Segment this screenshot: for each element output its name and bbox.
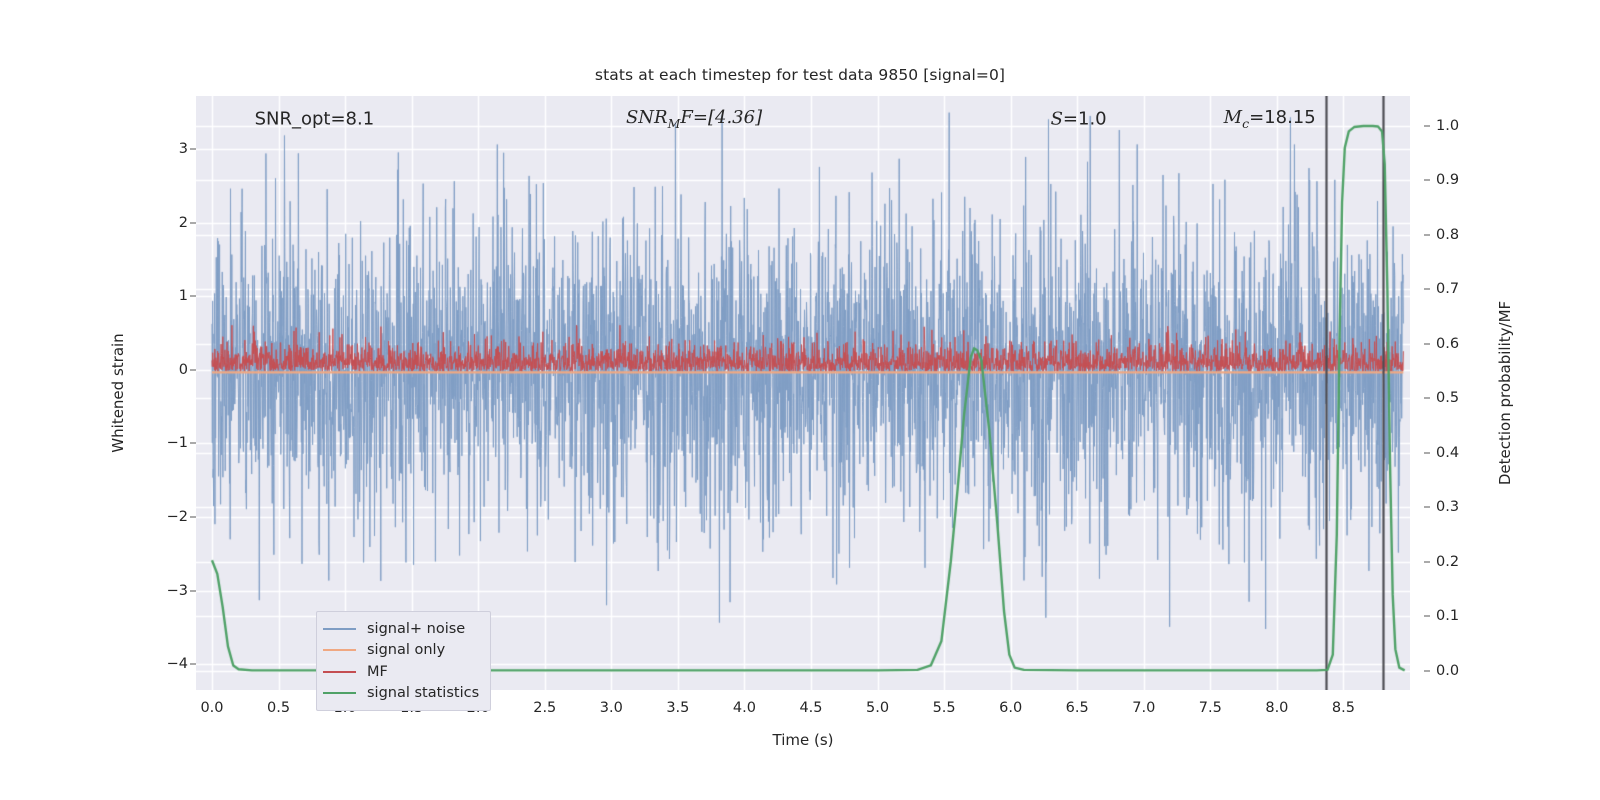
y-tick-label-right: 1.0 [1436, 118, 1459, 134]
legend-label: MF [367, 664, 388, 680]
y-tick-mark-right [1424, 561, 1430, 562]
x-tick-label: 2.5 [533, 700, 556, 716]
x-tick-label: 3.5 [666, 700, 689, 716]
page-title: stats at each timestep for test data 985… [0, 66, 1600, 84]
legend-item-signal-noise[interactable]: signal+ noise [323, 618, 482, 640]
legend-item-signal-only[interactable]: signal only [323, 640, 482, 662]
y-tick-mark-left [190, 443, 196, 444]
annotation-signal-score: S=1.0 [1051, 109, 1107, 130]
legend-item-mf[interactable]: MF [323, 661, 482, 683]
x-tick-label: 8.5 [1332, 700, 1355, 716]
y-tick-label-right: 0.6 [1436, 336, 1459, 352]
x-tick-label: 5.0 [866, 700, 889, 716]
y-tick-mark-right [1424, 452, 1430, 453]
x-tick-label: 4.0 [733, 700, 756, 716]
y-tick-label-right: 0.2 [1436, 554, 1459, 570]
y-tick-label-right: 0.5 [1436, 390, 1459, 406]
legend-label: signal+ noise [367, 621, 465, 637]
x-axis-label: Time (s) [773, 731, 834, 749]
annotation-snr-mf: SNRMF=[4.36] [626, 108, 762, 132]
annotation-layer: SNR_opt=8.1 SNRMF=[4.36] S=1.0 Mc=18.15 [196, 96, 1410, 690]
y-axis-label-left: Whitened strain [109, 333, 127, 452]
legend-swatch-icon [323, 671, 356, 673]
y-tick-mark-right [1424, 125, 1430, 126]
y-tick-mark-right [1424, 289, 1430, 290]
y-tick-label-left: −1 [167, 435, 188, 451]
y-tick-mark-left [190, 369, 196, 370]
y-tick-label-right: 0.0 [1436, 663, 1459, 679]
x-tick-label: 4.5 [799, 700, 822, 716]
x-tick-label: 0.5 [267, 700, 290, 716]
legend-swatch-icon [323, 692, 356, 694]
y-tick-label-left: 3 [179, 141, 188, 157]
annotation-chirp-mass: Mc=18.15 [1224, 108, 1316, 132]
y-tick-mark-right [1424, 343, 1430, 344]
y-tick-label-left: 1 [179, 288, 188, 304]
legend-swatch-icon [323, 628, 356, 630]
annotation-snr-opt: SNR_opt=8.1 [255, 109, 375, 130]
legend-label: signal statistics [367, 685, 479, 701]
y-tick-mark-left [190, 296, 196, 297]
y-tick-mark-right [1424, 507, 1430, 508]
y-tick-label-right: 0.4 [1436, 445, 1459, 461]
y-tick-label-right: 0.9 [1436, 172, 1459, 188]
y-tick-label-right: 0.8 [1436, 227, 1459, 243]
x-tick-label: 5.5 [933, 700, 956, 716]
y-tick-mark-left [190, 664, 196, 665]
x-tick-label: 7.0 [1132, 700, 1155, 716]
x-tick-label: 6.5 [1066, 700, 1089, 716]
y-tick-mark-right [1424, 670, 1430, 671]
legend-item-signal-statistics[interactable]: signal statistics [323, 683, 482, 705]
y-tick-label-left: −2 [167, 509, 188, 525]
y-tick-label-left: 0 [179, 362, 188, 378]
legend[interactable]: signal+ noisesignal onlyMFsignal statist… [316, 611, 491, 711]
y-tick-mark-left [190, 517, 196, 518]
x-tick-label: 3.0 [600, 700, 623, 716]
y-tick-mark-right [1424, 234, 1430, 235]
legend-label: signal only [367, 642, 445, 658]
x-tick-label: 6.0 [999, 700, 1022, 716]
x-tick-label: 0.0 [200, 700, 223, 716]
y-tick-label-left: 2 [179, 215, 188, 231]
y-tick-label-left: −3 [167, 583, 188, 599]
y-tick-mark-left [190, 148, 196, 149]
y-tick-mark-left [190, 222, 196, 223]
x-tick-label: 7.5 [1199, 700, 1222, 716]
y-tick-mark-right [1424, 398, 1430, 399]
y-tick-label-left: −4 [167, 656, 188, 672]
y-tick-label-right: 0.3 [1436, 499, 1459, 515]
legend-swatch-icon [323, 649, 356, 651]
y-axis-label-right: Detection probability/MF [1496, 301, 1514, 485]
y-tick-label-right: 0.1 [1436, 608, 1459, 624]
plot-area: SNR_opt=8.1 SNRMF=[4.36] S=1.0 Mc=18.15 [196, 96, 1410, 690]
y-tick-mark-right [1424, 180, 1430, 181]
figure-canvas: stats at each timestep for test data 985… [0, 0, 1600, 800]
x-tick-label: 8.0 [1265, 700, 1288, 716]
y-tick-mark-left [190, 590, 196, 591]
y-tick-mark-right [1424, 616, 1430, 617]
y-tick-label-right: 0.7 [1436, 281, 1459, 297]
